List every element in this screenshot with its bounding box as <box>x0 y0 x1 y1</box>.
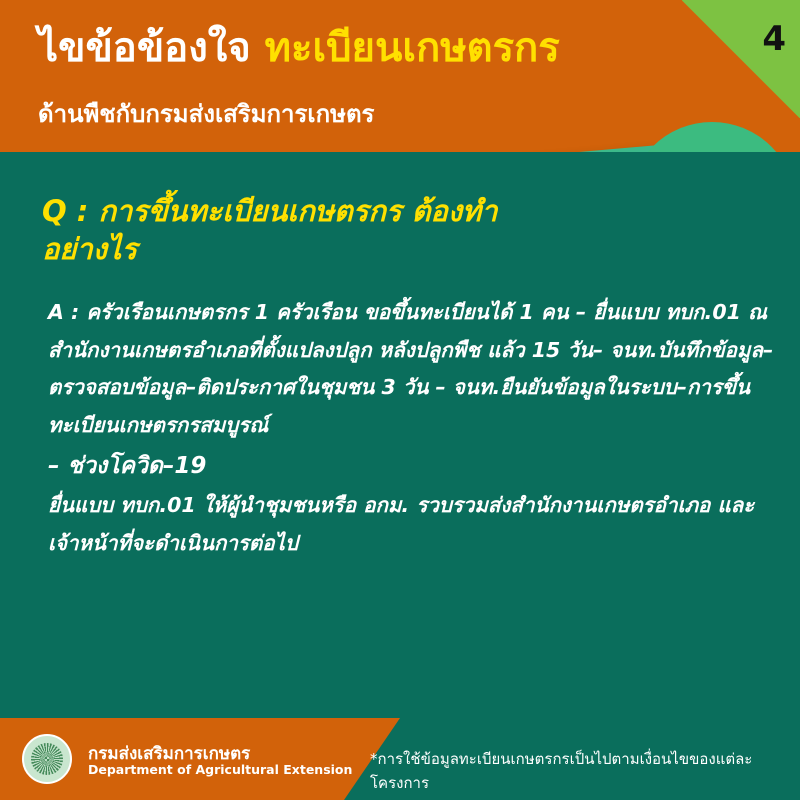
header-title-white: ไขข้อข้องใจ <box>38 25 251 71</box>
footer-org-en: Department of Agricultural Extension <box>88 762 352 777</box>
doae-seal-logo <box>22 734 72 784</box>
page-number-badge: 4 <box>762 22 786 56</box>
qa-section: Q : การขึ้นทะเบียนเกษตรกร ต้องทำอย่างไร … <box>0 152 800 800</box>
covid-heading: – ช่วงโควิด–19 <box>48 445 778 487</box>
question-text: Q : การขึ้นทะเบียนเกษตรกร ต้องทำอย่างไร <box>42 192 512 269</box>
header-title: ไขข้อข้องใจ ทะเบียนเกษตรกร <box>38 27 560 69</box>
footer-note: *การใช้ข้อมูลทะเบียนเกษตรกรเป็นไปตามเงื่… <box>370 747 800 795</box>
covid-line-1: ยื่นแบบ ทบก.01 ให้ผู้นำชุมชนหรือ อกม. รว… <box>48 493 710 517</box>
corner-triangle-badge <box>682 0 800 118</box>
infographic-poster: ไขข้อข้องใจ ทะเบียนเกษตรกร ด้านพืชกับกรม… <box>0 0 800 800</box>
poster-footer: กรมส่งเสริมการเกษตร Department of Agricu… <box>0 718 800 800</box>
header-title-yellow: ทะเบียนเกษตรกร <box>265 25 560 71</box>
answer-block: A : ครัวเรือนเกษตรกร 1 ครัวเรือน ขอขึ้นท… <box>48 294 778 563</box>
answer-line-1: A : ครัวเรือนเกษตรกร 1 ครัวเรือน ขอขึ้นท… <box>48 300 569 324</box>
header-subtitle: ด้านพืชกับกรมส่งเสริมการเกษตร <box>38 94 374 133</box>
